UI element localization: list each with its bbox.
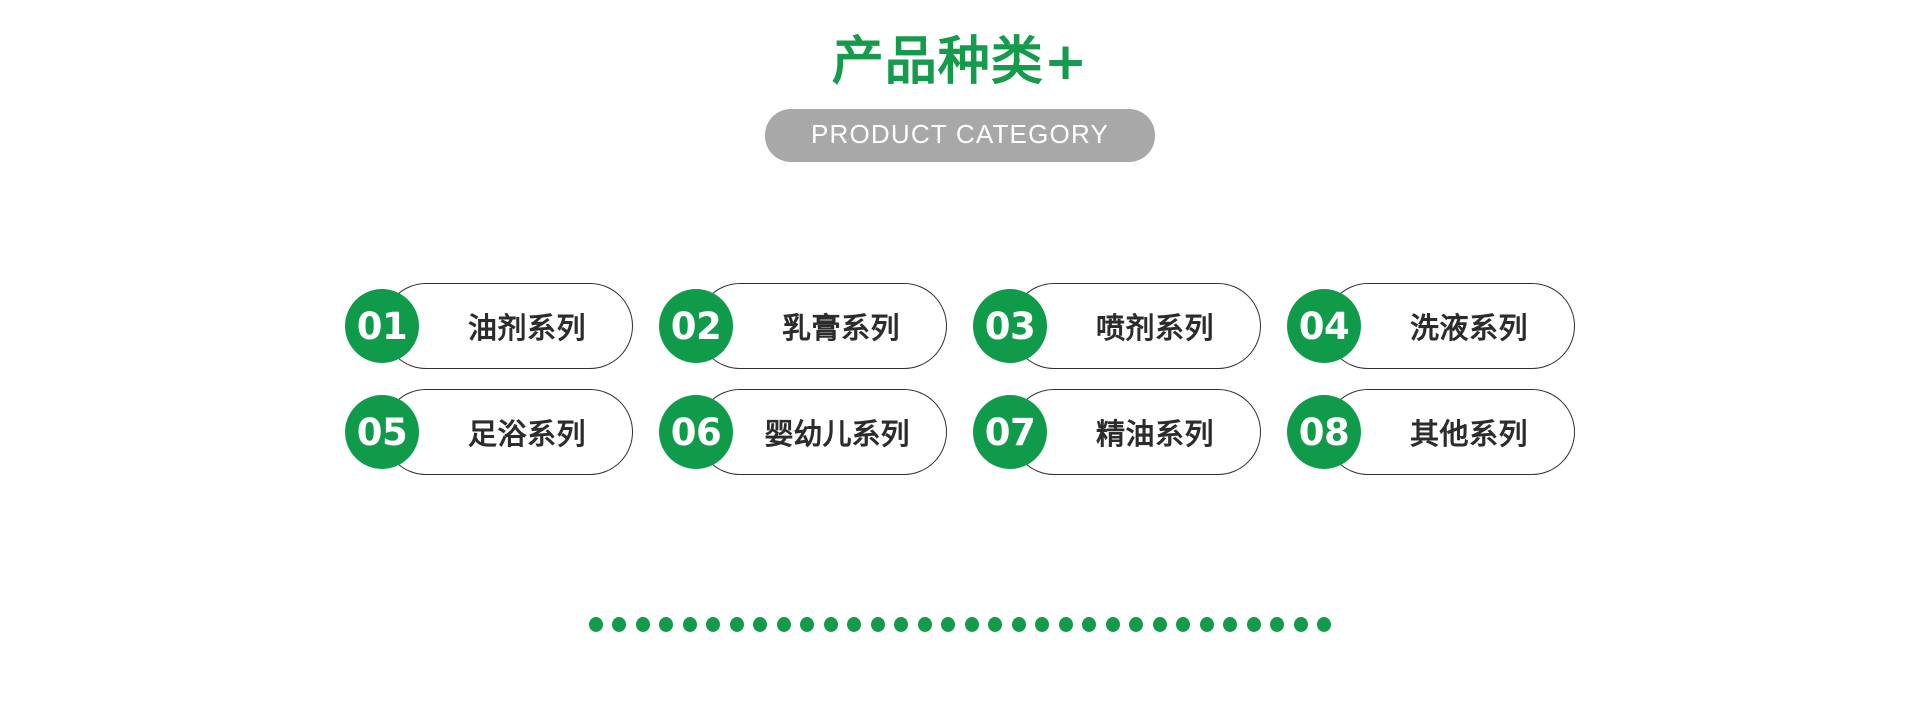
divider-dot-icon [1059, 617, 1073, 632]
divider-dot-icon [1223, 617, 1237, 632]
category-number-badge: 08 [1287, 395, 1361, 469]
divider-dot-icon [941, 617, 955, 632]
divider-dot-icon [847, 617, 861, 632]
category-item-06[interactable]: 06 婴幼儿系列 [659, 389, 947, 475]
divider-dot-icon [1035, 617, 1049, 632]
category-label: 油剂系列 [429, 283, 625, 369]
category-item-08[interactable]: 08 其他系列 [1287, 389, 1575, 475]
divider-dot-icon [1012, 617, 1026, 632]
divider-dot-icon [706, 617, 720, 632]
category-item-07[interactable]: 07 精油系列 [973, 389, 1261, 475]
divider-dot-icon [894, 617, 908, 632]
divider-dot-icon [1129, 617, 1143, 632]
category-row-2: 05 足浴系列 06 婴幼儿系列 07 精油系列 08 其他系列 [345, 389, 1575, 475]
divider-dot-icon [1270, 617, 1284, 632]
divider-dot-icon [1200, 617, 1214, 632]
divider-dot-icon [871, 617, 885, 632]
category-number-badge: 07 [973, 395, 1047, 469]
category-label: 足浴系列 [429, 389, 625, 475]
divider-dot-icon [988, 617, 1002, 632]
product-category-section: 产品种类+ PRODUCT CATEGORY 01 油剂系列 02 乳膏系列 0… [0, 0, 1920, 724]
dot-divider [0, 617, 1920, 632]
section-header: 产品种类+ PRODUCT CATEGORY [0, 34, 1920, 162]
category-label: 精油系列 [1057, 389, 1253, 475]
category-label: 婴幼儿系列 [731, 389, 943, 475]
page-title: 产品种类+ [0, 34, 1920, 91]
divider-dot-icon [753, 617, 767, 632]
divider-dot-icon [659, 617, 673, 632]
category-grid: 01 油剂系列 02 乳膏系列 03 喷剂系列 04 洗液系列 [0, 283, 1920, 475]
category-number-badge: 03 [973, 289, 1047, 363]
subtitle-container: PRODUCT CATEGORY [0, 109, 1920, 162]
category-number-badge: 01 [345, 289, 419, 363]
category-number-badge: 05 [345, 395, 419, 469]
divider-dot-icon [636, 617, 650, 632]
subtitle-banner: PRODUCT CATEGORY [765, 109, 1155, 162]
category-row-1: 01 油剂系列 02 乳膏系列 03 喷剂系列 04 洗液系列 [345, 283, 1575, 369]
divider-dot-icon [1082, 617, 1096, 632]
category-number-badge: 06 [659, 395, 733, 469]
category-number-badge: 02 [659, 289, 733, 363]
divider-dot-icon [1176, 617, 1190, 632]
divider-dot-icon [683, 617, 697, 632]
category-label: 喷剂系列 [1057, 283, 1253, 369]
divider-dot-icon [1106, 617, 1120, 632]
divider-dot-icon [777, 617, 791, 632]
divider-dot-icon [589, 617, 603, 632]
category-label: 乳膏系列 [743, 283, 939, 369]
category-item-01[interactable]: 01 油剂系列 [345, 283, 633, 369]
divider-dot-icon [824, 617, 838, 632]
divider-dot-icon [1247, 617, 1261, 632]
category-item-04[interactable]: 04 洗液系列 [1287, 283, 1575, 369]
divider-dot-icon [918, 617, 932, 632]
divider-dot-icon [612, 617, 626, 632]
category-label: 洗液系列 [1371, 283, 1567, 369]
divider-dot-icon [1153, 617, 1167, 632]
divider-dot-icon [965, 617, 979, 632]
category-item-03[interactable]: 03 喷剂系列 [973, 283, 1261, 369]
category-number-badge: 04 [1287, 289, 1361, 363]
divider-dot-icon [1294, 617, 1308, 632]
divider-dot-icon [730, 617, 744, 632]
category-item-05[interactable]: 05 足浴系列 [345, 389, 633, 475]
category-label: 其他系列 [1371, 389, 1567, 475]
divider-dot-icon [800, 617, 814, 632]
divider-dot-icon [1317, 617, 1331, 632]
category-item-02[interactable]: 02 乳膏系列 [659, 283, 947, 369]
